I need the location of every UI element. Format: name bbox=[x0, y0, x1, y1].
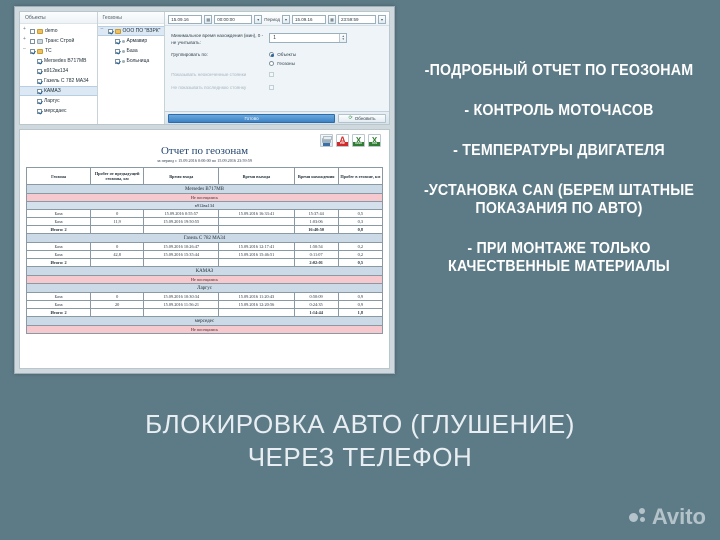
object-tree-item-label: Mersedes B717MB bbox=[44, 58, 87, 64]
table-total-cell: 0,5 bbox=[338, 259, 382, 267]
tree-spacer bbox=[108, 49, 113, 54]
table-total-cell bbox=[144, 226, 219, 234]
object-tree-item-label: Ларгус bbox=[44, 98, 60, 104]
radio-geozones-label: Геозоны bbox=[277, 61, 295, 66]
tree-spacer bbox=[108, 39, 113, 44]
table-cell: 0 bbox=[91, 293, 144, 301]
group-header-row: Газель С 782 МА34 bbox=[27, 234, 383, 243]
table-header-row: ГеозонаПробег от предыдущей геозоны, кмВ… bbox=[27, 168, 383, 185]
table-cell: 0,9 bbox=[338, 301, 382, 309]
no-visit-row-cell: Не посещались bbox=[27, 194, 383, 202]
date-range-bar: 15.09.16 ▦ 00:00:00 ▾ Период ▾ 15.09.16 … bbox=[165, 12, 389, 26]
table-cell: 15.09.2016 19:50:55 bbox=[144, 218, 219, 226]
action-button-bar: Готово ⟳ Обновить bbox=[165, 111, 389, 124]
table-cell: 0,5 bbox=[338, 210, 382, 218]
table-cell: База bbox=[27, 218, 91, 226]
table-total-cell bbox=[144, 309, 219, 317]
group-header-row-cell: Ларгус bbox=[27, 284, 383, 293]
table-cell: 15.09.2016 11:56:21 bbox=[144, 301, 219, 309]
disabled-option-row-2: Не показывать последнюю стоянку bbox=[171, 85, 383, 92]
table-cell: 1:03:06 bbox=[294, 218, 338, 226]
table-cell: 15.09.2016 0:55:57 bbox=[144, 210, 219, 218]
object-tree-item[interactable]: мерсдаес bbox=[20, 106, 97, 116]
excel-icon-2[interactable]: XXLS bbox=[368, 134, 381, 147]
object-tree-item-label: demo bbox=[45, 28, 58, 34]
tree-spacer bbox=[30, 99, 35, 104]
table-cell: 0:11:07 bbox=[294, 251, 338, 259]
subgroup-header-row: в912вк134 bbox=[27, 202, 383, 210]
table-cell: 15:37:44 bbox=[294, 210, 338, 218]
checkbox-icon-disabled-1 bbox=[269, 72, 274, 77]
table-total-cell bbox=[219, 309, 294, 317]
object-tree-item[interactable]: Mersedes B717MB bbox=[20, 56, 97, 66]
no-visit-row: Не посещались bbox=[27, 326, 383, 334]
disabled-option-2-label: Не показывать последнюю стоянку bbox=[171, 85, 269, 92]
checkbox-icon[interactable] bbox=[115, 39, 120, 44]
report-area: APDF XXLSX XXLS Отчет по геозонам за пер… bbox=[19, 129, 390, 369]
promo-feature-item: -ПОДРОБНЫЙ ОТЧЕТ ПО ГЕОЗОНАМ bbox=[411, 62, 707, 80]
table-row: База11,915.09.2016 19:50:551:03:060,3 bbox=[27, 218, 383, 226]
table-cell: База bbox=[27, 210, 91, 218]
promo-feature-item: - КОНТРОЛЬ МОТОЧАСОВ bbox=[411, 102, 707, 120]
group-header-row-cell: мерседес bbox=[27, 317, 383, 326]
object-tree-item-label: ТС bbox=[45, 48, 52, 54]
table-cell: 15.09.2016 10:26:47 bbox=[144, 243, 219, 251]
group-by-row: Группировать по: Объекты Геозоны bbox=[171, 52, 383, 66]
table-total-row: Итого: 22:02:010,5 bbox=[27, 259, 383, 267]
min-stay-value: 1 bbox=[273, 35, 276, 41]
radio-objects-label: Объекты bbox=[277, 52, 296, 57]
table-cell: 0 bbox=[91, 210, 144, 218]
expander-plus-icon[interactable] bbox=[23, 39, 28, 44]
object-tree-item[interactable]: в912вк134 bbox=[20, 66, 97, 76]
checkbox-icon[interactable] bbox=[30, 49, 35, 54]
min-stay-stepper[interactable]: 1 ▲▼ bbox=[269, 33, 347, 43]
group-header-row-cell: Газель С 782 МА34 bbox=[27, 234, 383, 243]
time-to-input[interactable]: 23:59:59 bbox=[338, 15, 376, 24]
table-cell: 15.09.2016 15:35:44 bbox=[144, 251, 219, 259]
table-cell: База bbox=[27, 293, 91, 301]
table-column-header: Время входа bbox=[144, 168, 219, 185]
geozone-tree-item-label: ООО ПО "ВЗРК" bbox=[123, 28, 161, 34]
group-by-label: Группировать по: bbox=[171, 52, 269, 59]
table-total-cell: 1:14:44 bbox=[294, 309, 338, 317]
table-total-cell: 2:02:01 bbox=[294, 259, 338, 267]
checkbox-icon[interactable] bbox=[108, 29, 113, 34]
checkbox-icon[interactable] bbox=[30, 29, 35, 34]
tree-spacer bbox=[30, 89, 35, 94]
promo-feature-item: -УСТАНОВКА CAN (БЕРЕМ ШТАТНЫЕ ПОКАЗАНИЯ … bbox=[411, 182, 707, 218]
stepper-arrows-icon[interactable]: ▲▼ bbox=[339, 34, 346, 42]
objects-panel-header: Объекты bbox=[20, 12, 97, 24]
table-total-cell bbox=[219, 259, 294, 267]
table-column-header: Время нахождения bbox=[294, 168, 338, 185]
no-visit-row-cell: Не посещались bbox=[27, 326, 383, 334]
subgroup-header-row-cell: в912вк134 bbox=[27, 202, 383, 210]
dot-icon bbox=[122, 60, 125, 63]
geozone-report-table: ГеозонаПробег от предыдущей геозоны, кмВ… bbox=[26, 167, 383, 334]
table-row: База015.09.2016 0:55:5715.09.2016 16:33:… bbox=[27, 210, 383, 218]
table-total-cell bbox=[144, 259, 219, 267]
geozone-tree-item[interactable]: База bbox=[98, 46, 165, 56]
folder-gray-icon bbox=[37, 39, 43, 44]
radio-icon-geozones[interactable] bbox=[269, 61, 274, 66]
disabled-option-1-label: Показывать неоконченные стоянки bbox=[171, 72, 269, 79]
object-tree-item-label: Газель С 782 МА34 bbox=[44, 78, 89, 84]
geozone-tree-item-label: База bbox=[127, 48, 138, 54]
promo-feature-list: -ПОДРОБНЫЙ ОТЧЕТ ПО ГЕОЗОНАМ- КОНТРОЛЬ М… bbox=[398, 62, 720, 298]
tracking-app-screenshot: Объекты demoТранс СтройТСMersedes B717MB… bbox=[14, 6, 395, 374]
table-cell: 0 bbox=[91, 243, 144, 251]
chevron-down-icon-period[interactable]: ▾ bbox=[282, 15, 290, 24]
table-cell: 0,2 bbox=[338, 243, 382, 251]
tree-spacer bbox=[30, 109, 35, 114]
checkbox-icon-disabled-2 bbox=[269, 85, 274, 90]
folder-icon bbox=[115, 29, 121, 34]
dot-icon bbox=[122, 40, 125, 43]
done-button[interactable]: Готово bbox=[168, 114, 335, 123]
calendar-icon-to[interactable]: ▦ bbox=[328, 15, 336, 24]
avito-logo-icon bbox=[629, 508, 647, 526]
object-tree-item[interactable]: demo bbox=[20, 26, 97, 36]
table-cell: 15.09.2016 12:17:41 bbox=[219, 243, 294, 251]
table-cell: 15.09.2016 15:46:51 bbox=[219, 251, 294, 259]
tree-spacer bbox=[30, 69, 35, 74]
group-header-row: Mersedes B717MB bbox=[27, 185, 383, 194]
report-config-strip: Объекты demoТранс СтройТСMersedes B717MB… bbox=[19, 11, 390, 125]
table-cell: 15.09.2016 10:30:34 bbox=[144, 293, 219, 301]
table-total-cell: Итого: 2 bbox=[27, 226, 91, 234]
table-total-cell bbox=[91, 259, 144, 267]
date-to-input[interactable]: 15.09.16 bbox=[292, 15, 326, 24]
table-cell: База bbox=[27, 251, 91, 259]
object-tree-item[interactable]: Транс Строй bbox=[20, 36, 97, 46]
avito-watermark: Avito bbox=[629, 504, 706, 530]
disabled-option-row-1: Показывать неоконченные стоянки bbox=[171, 72, 383, 79]
radio-icon-objects[interactable] bbox=[269, 52, 274, 57]
folder-icon bbox=[37, 29, 43, 34]
table-total-cell bbox=[219, 226, 294, 234]
objects-tree[interactable]: demoТранс СтройТСMersedes B717MBв912вк13… bbox=[20, 24, 97, 116]
group-header-row: Ларгус bbox=[27, 284, 383, 293]
chevron-down-icon-to[interactable]: ▾ bbox=[378, 15, 386, 24]
promo-headline: БЛОКИРОВКА АВТО (ГЛУШЕНИЕ) ЧЕРЕЗ ТЕЛЕФОН bbox=[0, 408, 720, 474]
calendar-icon-from[interactable]: ▦ bbox=[204, 15, 212, 24]
radio-objects[interactable]: Объекты bbox=[269, 52, 296, 57]
print-icon[interactable] bbox=[320, 134, 333, 147]
table-cell: 0:24:35 bbox=[294, 301, 338, 309]
table-cell: 42,8 bbox=[91, 251, 144, 259]
xlsx-label: XLSX bbox=[353, 142, 364, 146]
geozones-tree[interactable]: ООО ПО "ВЗРК"АрмавирБазаБольница bbox=[98, 24, 165, 66]
table-row: База42,815.09.2016 15:35:4415.09.2016 15… bbox=[27, 251, 383, 259]
table-column-header: Пробег от предыдущей геозоны, км bbox=[91, 168, 144, 185]
report-parameters-panel: 15.09.16 ▦ 00:00:00 ▾ Период ▾ 15.09.16 … bbox=[165, 12, 389, 124]
refresh-button-label: Обновить bbox=[355, 116, 376, 121]
object-tree-item[interactable]: ТС bbox=[20, 46, 97, 56]
checkbox-icon[interactable] bbox=[37, 109, 42, 114]
table-cell: 0,9 bbox=[338, 293, 382, 301]
table-cell bbox=[219, 218, 294, 226]
object-tree-item-label: мерсдаес bbox=[44, 108, 66, 114]
table-total-cell bbox=[91, 226, 144, 234]
geozones-panel-header: Геозоны bbox=[98, 12, 165, 24]
group-header-row-cell: КАМАЗ bbox=[27, 267, 383, 276]
object-tree-item-label: Транс Строй bbox=[45, 38, 74, 44]
pdf-label: PDF bbox=[337, 142, 348, 146]
min-stay-row: Минимальное время нахождения (мин), 0 - … bbox=[171, 33, 383, 46]
table-total-row: Итого: 21:14:441,8 bbox=[27, 309, 383, 317]
table-column-header: Геозона bbox=[27, 168, 91, 185]
group-header-row: мерседес bbox=[27, 317, 383, 326]
table-body: Mersedes B717MBНе посещалисьв912вк134Баз… bbox=[27, 185, 383, 334]
tree-spacer bbox=[108, 59, 113, 64]
table-total-cell: 0,8 bbox=[338, 226, 382, 234]
tree-spacer bbox=[30, 59, 35, 64]
checkbox-icon[interactable] bbox=[37, 59, 42, 64]
geozone-tree-item[interactable]: ООО ПО "ВЗРК" bbox=[98, 26, 165, 36]
promo-feature-item: - ПРИ МОНТАЖЕ ТОЛЬКО КАЧЕСТВЕННЫЕ МАТЕРИ… bbox=[411, 240, 707, 276]
object-tree-item[interactable]: КАМАЗ bbox=[20, 86, 97, 96]
table-row: База015.09.2016 10:26:4715.09.2016 12:17… bbox=[27, 243, 383, 251]
table-cell: База bbox=[27, 301, 91, 309]
expander-minus-icon[interactable] bbox=[101, 29, 106, 34]
table-cell: База bbox=[27, 243, 91, 251]
table-cell: 0:50:09 bbox=[294, 293, 338, 301]
checkbox-icon[interactable] bbox=[115, 59, 120, 64]
table-cell: 15.09.2016 16:33:41 bbox=[219, 210, 294, 218]
geozone-tree-item[interactable]: Армавир bbox=[98, 36, 165, 46]
table-cell: 1:50:54 bbox=[294, 243, 338, 251]
time-from-input[interactable]: 00:00:00 bbox=[214, 15, 252, 24]
refresh-button[interactable]: ⟳ Обновить bbox=[338, 114, 386, 123]
headline-line-2: ЧЕРЕЗ ТЕЛЕФОН bbox=[0, 441, 720, 474]
table-row: База2015.09.2016 11:56:2115.09.2016 12:2… bbox=[27, 301, 383, 309]
tree-spacer bbox=[30, 79, 35, 84]
table-cell: 15.09.2016 11:20:43 bbox=[219, 293, 294, 301]
table-cell: 11,9 bbox=[91, 218, 144, 226]
geozone-tree-item-label: Армавир bbox=[127, 38, 148, 44]
object-tree-item-label: КАМАЗ bbox=[44, 88, 61, 94]
table-total-cell: Итого: 2 bbox=[27, 259, 91, 267]
dot-icon bbox=[122, 50, 125, 53]
min-stay-label: Минимальное время нахождения (мин), 0 - … bbox=[171, 33, 269, 46]
group-header-row-cell: Mersedes B717MB bbox=[27, 185, 383, 194]
radio-geozones[interactable]: Геозоны bbox=[269, 61, 296, 66]
pdf-icon[interactable]: APDF bbox=[336, 134, 349, 147]
period-label: Период bbox=[264, 17, 280, 22]
checkbox-icon[interactable] bbox=[115, 49, 120, 54]
checkbox-icon[interactable] bbox=[37, 99, 42, 104]
table-total-cell: 16:40:50 bbox=[294, 226, 338, 234]
no-visit-row: Не посещались bbox=[27, 194, 383, 202]
table-cell: 20 bbox=[91, 301, 144, 309]
object-tree-item[interactable]: Газель С 782 МА34 bbox=[20, 76, 97, 86]
table-cell: 0,3 bbox=[338, 218, 382, 226]
table-column-header: Время выхода bbox=[219, 168, 294, 185]
geozone-tree-item-label: Больница bbox=[127, 58, 150, 64]
folder-icon bbox=[37, 49, 43, 54]
object-tree-item[interactable]: Ларгус bbox=[20, 96, 97, 106]
group-by-radios[interactable]: Объекты Геозоны bbox=[269, 52, 296, 66]
table-total-row: Итого: 216:40:500,8 bbox=[27, 226, 383, 234]
geozone-tree-item[interactable]: Больница bbox=[98, 56, 165, 66]
table-total-cell bbox=[91, 309, 144, 317]
expander-minus-icon[interactable] bbox=[23, 49, 28, 54]
table-column-header: Пробег в геозоне, км bbox=[338, 168, 382, 185]
table-cell: 15.09.2016 12:20:56 bbox=[219, 301, 294, 309]
checkbox-icon[interactable] bbox=[30, 39, 35, 44]
xls-label: XLS bbox=[369, 142, 380, 146]
headline-line-1: БЛОКИРОВКА АВТО (ГЛУШЕНИЕ) bbox=[0, 408, 720, 441]
refresh-icon: ⟳ bbox=[348, 115, 352, 121]
group-header-row: КАМАЗ bbox=[27, 267, 383, 276]
no-visit-row: Не посещались bbox=[27, 276, 383, 284]
table-total-cell: 1,8 bbox=[338, 309, 382, 317]
table-total-cell: Итого: 2 bbox=[27, 309, 91, 317]
table-row: База015.09.2016 10:30:3415.09.2016 11:20… bbox=[27, 293, 383, 301]
object-tree-item-label: в912вк134 bbox=[44, 68, 68, 74]
checkbox-icon[interactable] bbox=[37, 79, 42, 84]
checkbox-icon[interactable] bbox=[37, 89, 42, 94]
report-title: Отчет по геозонам bbox=[20, 145, 389, 157]
expander-plus-icon[interactable] bbox=[23, 29, 28, 34]
no-visit-row-cell: Не посещались bbox=[27, 276, 383, 284]
objects-panel: Объекты demoТранс СтройТСMersedes B717MB… bbox=[20, 12, 98, 124]
report-subtitle: за период с 15.09.2016 0:00:00 по 15.09.… bbox=[20, 158, 389, 163]
avito-watermark-text: Avito bbox=[652, 504, 706, 530]
chevron-down-icon-from[interactable]: ▾ bbox=[254, 15, 262, 24]
geozones-panel: Геозоны ООО ПО "ВЗРК"АрмавирБазаБольница bbox=[98, 12, 166, 124]
checkbox-icon[interactable] bbox=[37, 69, 42, 74]
promo-feature-item: - ТЕМПЕРАТУРЫ ДВИГАТЕЛЯ bbox=[411, 142, 707, 160]
excel-icon[interactable]: XXLSX bbox=[352, 134, 365, 147]
date-from-input[interactable]: 15.09.16 bbox=[168, 15, 202, 24]
parameters-body: Минимальное время нахождения (мин), 0 - … bbox=[165, 26, 389, 91]
table-cell: 0,2 bbox=[338, 251, 382, 259]
